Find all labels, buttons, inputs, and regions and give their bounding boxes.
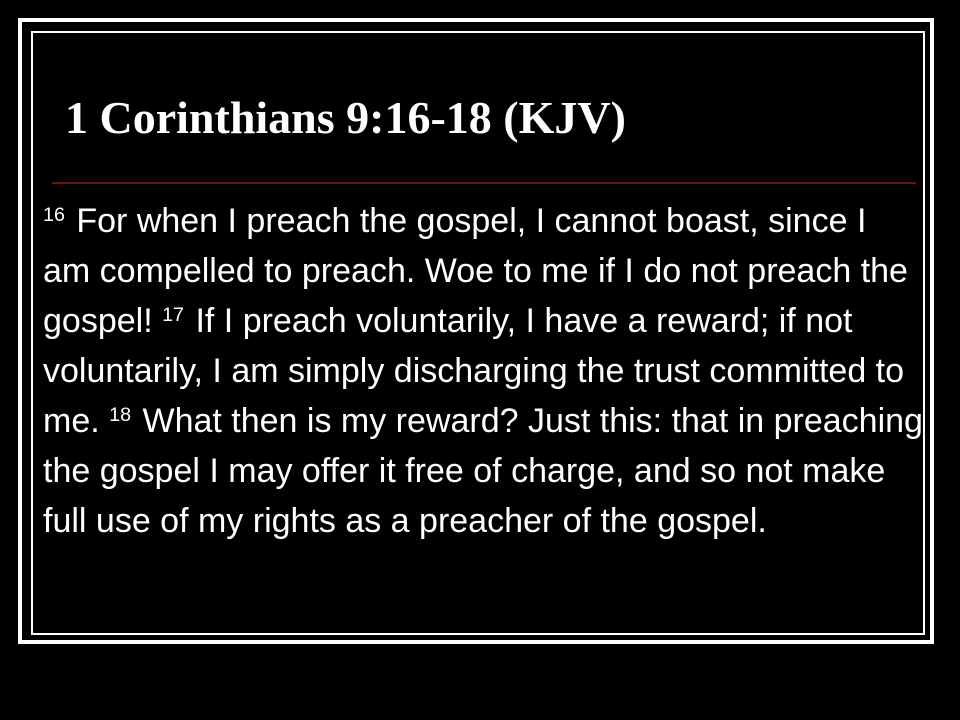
scripture-body-text: 16 For when I preach the gospel, I canno… (43, 196, 923, 546)
verse-number: 16 (43, 204, 67, 226)
verse-number: 17 (162, 304, 186, 326)
scripture-slide: 1 Corinthians 9:16-18 (KJV) 16 For when … (0, 0, 960, 720)
verse-number: 18 (109, 404, 133, 426)
title-divider-rule (52, 182, 916, 184)
slide-title: 1 Corinthians 9:16-18 (KJV) (65, 95, 626, 141)
scripture-text-run: What then is my reward? Just this: that … (43, 402, 923, 540)
slide-content-area: 1 Corinthians 9:16-18 (KJV) 16 For when … (33, 33, 923, 633)
